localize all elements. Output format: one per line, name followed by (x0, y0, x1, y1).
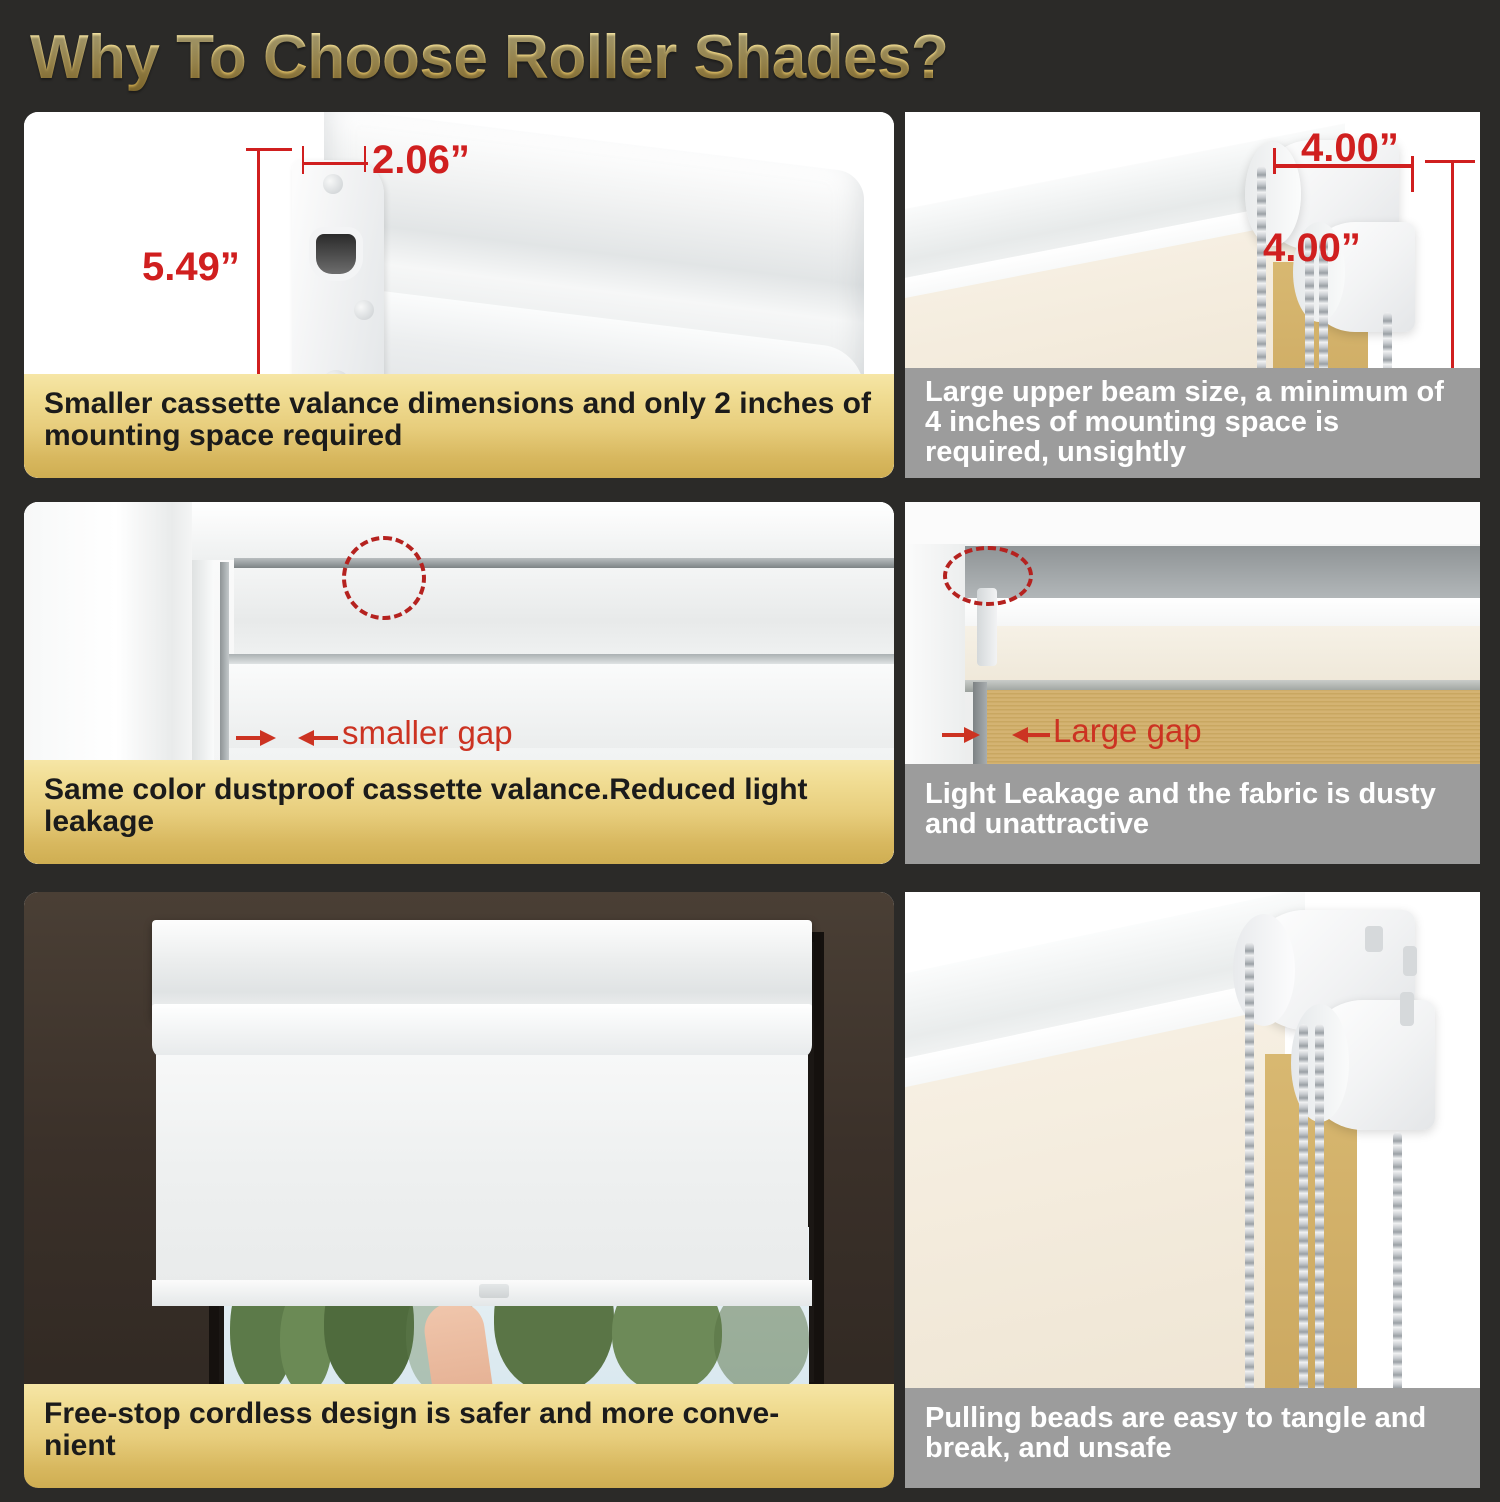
gap-arrow-icons (234, 720, 340, 756)
smaller-gap-label: smaller gap (342, 714, 513, 752)
con-panel-light-leakage[interactable]: Large gap Light Leakage and the fabric i… (905, 502, 1480, 864)
pro-caption-operation-line1: Free-stop cordless design is safer and m… (44, 1397, 779, 1430)
comparison-row-operation: Free-stop cordless design is safer and m… (0, 892, 1500, 1502)
width-dimension-label: 2.06” (372, 138, 470, 183)
top-width-tick-right (1411, 156, 1414, 192)
height-dimension-label: 5.49” (142, 245, 240, 290)
pro-caption-light-leakage: Same color dustproof cassette valance.Re… (24, 760, 894, 864)
width-dim-tick-left (302, 146, 304, 174)
side-height-line (1451, 160, 1454, 376)
side-height-tick-top (1425, 160, 1475, 163)
height-dim-tick-top (246, 148, 292, 151)
con-caption-operation: Pulling beads are easy to tangle and bre… (905, 1388, 1480, 1488)
large-gap-label: Large gap (1053, 712, 1202, 750)
comparison-row-mounting-depth: 2.06” 5.49” Smaller cassette valance dim… (0, 112, 1500, 490)
con-panel-mounting-depth[interactable]: 4.00” 4.00” Large upper beam size, a min… (905, 112, 1480, 478)
pro-caption-mounting-depth: Smaller cassette valance dimensions and … (24, 374, 894, 478)
con-panel-operation[interactable]: Pulling beads are easy to tangle and bre… (905, 892, 1480, 1488)
gap-arrow-icons (940, 718, 1052, 752)
pro-caption-operation-line2: nient (44, 1429, 116, 1462)
beam-width-label: 4.00” (1301, 126, 1399, 171)
highlight-ring-icon (342, 536, 426, 620)
page-title: Why To Choose Roller Shades? (30, 22, 948, 93)
width-dim-tick-right (364, 146, 366, 172)
width-dim-line (302, 162, 368, 165)
con-caption-mounting-depth: Large upper beam size, a minimum of 4 in… (905, 368, 1480, 478)
comparison-grid: 2.06” 5.49” Smaller cassette valance dim… (0, 112, 1500, 490)
pro-panel-mounting-depth[interactable]: 2.06” 5.49” Smaller cassette valance dim… (24, 112, 894, 478)
pro-panel-light-leakage[interactable]: smaller gap Same color dustproof cassett… (24, 502, 894, 864)
con-caption-light-leakage: Light Leakage and the fabric is dusty an… (905, 764, 1480, 864)
beam-height-label: 4.00” (1263, 226, 1361, 271)
pro-panel-operation[interactable]: Free-stop cordless design is safer and m… (24, 892, 894, 1488)
pro-caption-operation: Free-stop cordless design is safer and m… (24, 1384, 894, 1488)
top-width-tick-left (1273, 148, 1276, 174)
highlight-ring-icon (943, 546, 1033, 606)
comparison-row-light-leakage: smaller gap Same color dustproof cassett… (0, 502, 1500, 880)
